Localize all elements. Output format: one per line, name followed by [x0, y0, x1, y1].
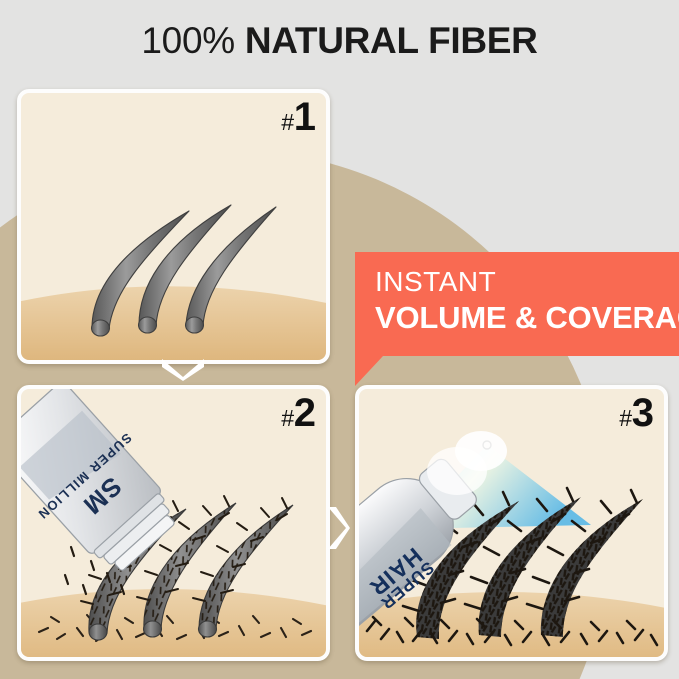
panel-2-number: #2: [281, 393, 315, 433]
scalp-dome: [21, 286, 326, 360]
arrow-right-icon: [326, 505, 350, 551]
panel-1-hash: #: [281, 109, 294, 135]
step-panel-1: #1: [17, 89, 330, 364]
promo-banner: INSTANT VOLUME & COVERAGE: [355, 252, 679, 356]
step-panel-3: SUPER HAIR #3: [355, 385, 668, 661]
banner-line-1: INSTANT: [375, 266, 496, 298]
panel-1-number: #1: [281, 97, 315, 137]
scalp-dome: [359, 592, 664, 657]
step-panel-2: SM SUPER MILLION #2: [17, 385, 330, 661]
nozzle-mist-2: [427, 447, 487, 495]
arrow-down-icon: [160, 357, 206, 381]
panel-1-digit: 1: [294, 95, 315, 139]
panel-3-hash: #: [619, 405, 632, 431]
banner-line-2: VOLUME & COVERAGE: [375, 300, 679, 336]
title-percent: 100%: [141, 20, 234, 61]
panel-3-digit: 3: [632, 391, 653, 435]
page-title: 100% NATURAL FIBER: [0, 20, 679, 62]
infographic-stage: 100% NATURAL FIBER: [0, 0, 679, 679]
panel-2-hash: #: [281, 405, 294, 431]
panel-3-number: #3: [619, 393, 653, 433]
panel-2-digit: 2: [294, 391, 315, 435]
banner-tail: [355, 356, 383, 386]
title-main: NATURAL FIBER: [245, 20, 538, 61]
fiber-bottle: SM SUPER MILLION: [21, 389, 194, 588]
